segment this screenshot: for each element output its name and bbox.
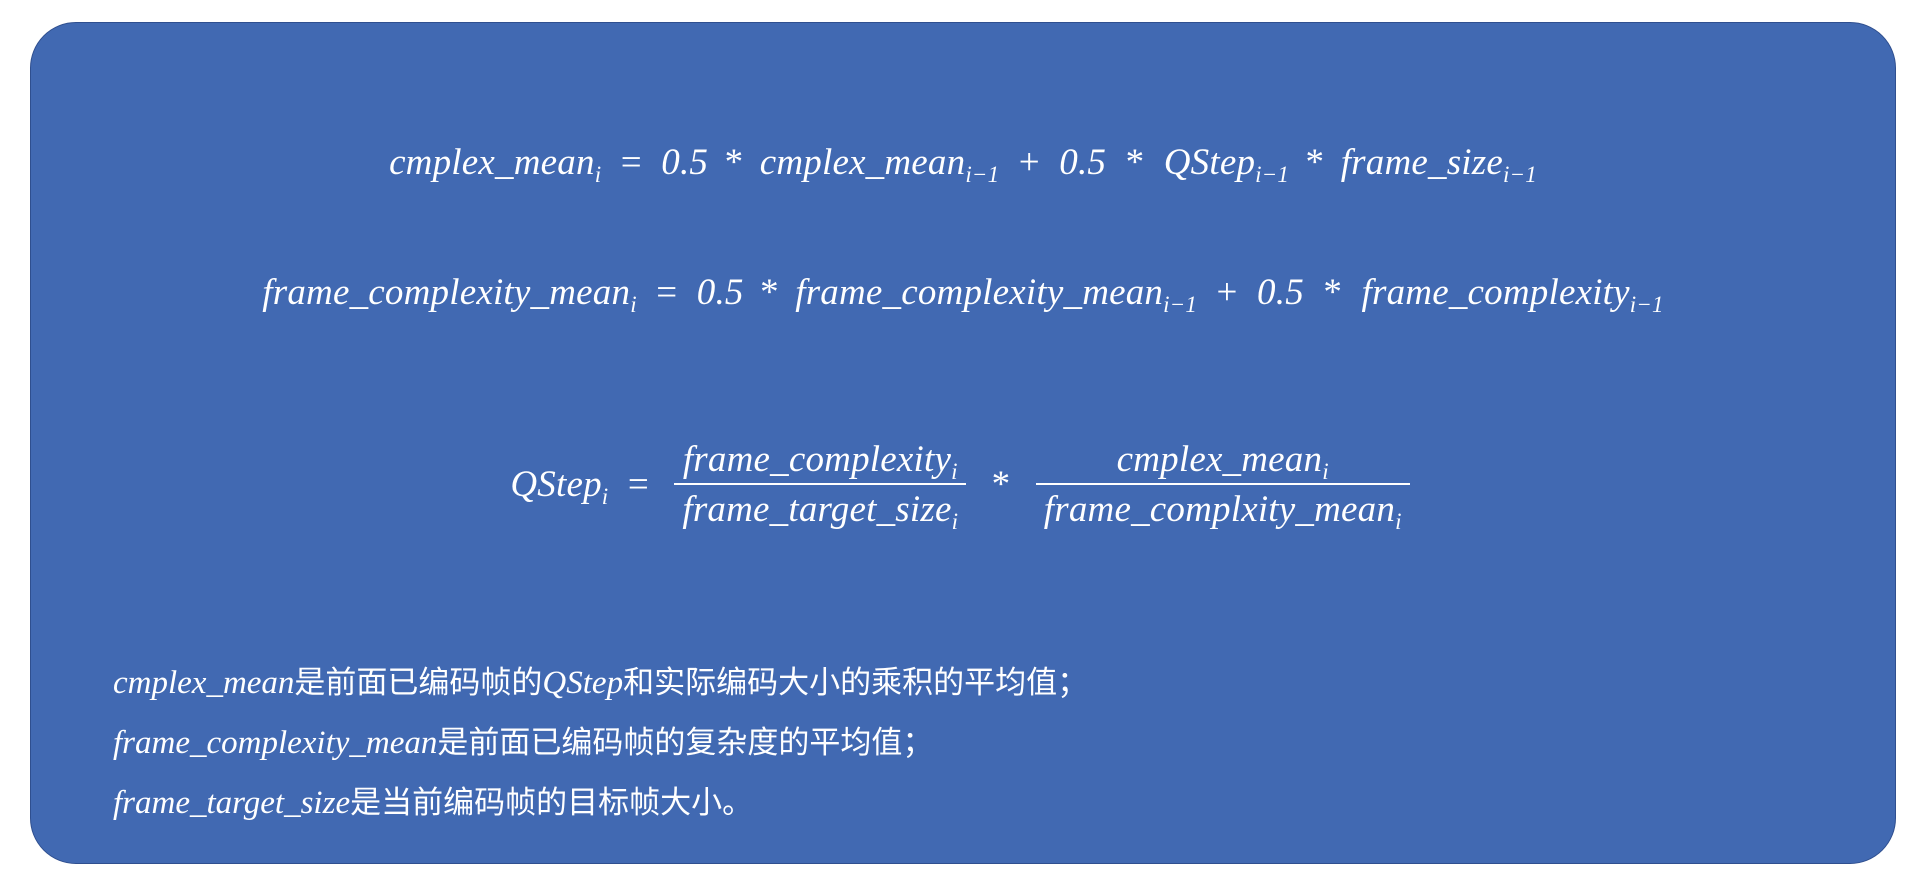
notes-block: cmplex_mean是前面已编码帧的QStep和实际编码大小的乘积的平均值； … [113,659,1813,839]
eq1-term-3: frame_sizei−1 [1341,144,1537,181]
eq2-coefficient-2: 0.5 [1257,274,1304,311]
eq3-fraction-2-denominator: frame_complxity_meani [1036,485,1410,528]
eq2-lhs-base: frame_complexity_mean [262,272,630,313]
note-2-text: 是当前编码帧的目标帧大小。 [350,785,753,821]
equation-frame-complexity-mean-recurrence: frame_complexity_meani = 0.5 * frame_com… [31,271,1895,311]
eq3-frac1-den-base: frame_target_size [682,489,951,530]
eq2-term-1: frame_complexity_meani−1 [795,274,1197,311]
eq2-term-1-base: frame_complexity_mean [795,272,1163,313]
eq3-fraction-2-numerator: cmplex_meani [1036,441,1410,485]
eq3-fraction-1-numerator: frame_complexityi [674,441,966,485]
note-line-cmplex-mean: cmplex_mean是前面已编码帧的QStep和实际编码大小的乘积的平均值； [113,659,1813,707]
eq3-frac1-num-base: frame_complexity [683,439,951,480]
eq1-term-3-base: frame_size [1341,142,1503,183]
eq3-frac1-den-sub: i [952,509,959,534]
eq1-term-2-sub: i−1 [1255,162,1289,187]
note-2-term: frame_target_size [113,785,350,821]
note-line-frame-target-size: frame_target_size是当前编码帧的目标帧大小。 [113,779,1813,827]
eq1-coefficient-2: 0.5 [1059,144,1106,181]
eq3-times: * [982,466,1021,503]
note-1-term: frame_complexity_mean [113,725,437,761]
eq1-lhs: cmplex_meani [389,144,601,181]
slide-canvas: cmplex_meani = 0.5 * cmplex_meani−1 + 0.… [0,0,1920,896]
eq3-fraction-2: cmplex_meani frame_complxity_meani [1030,441,1416,528]
eq1-lhs-sub: i [595,162,602,187]
eq1-times-2: * [1116,144,1155,181]
eq3-fraction-1: frame_complexityi frame_target_sizei [668,441,972,528]
eq1-term-2: QStepi−1 [1164,144,1289,181]
eq2-times-2: * [1313,274,1352,311]
eq2-plus: + [1207,274,1248,311]
note-1-text: 是前面已编码帧的复杂度的平均值； [437,725,933,761]
eq3-frac2-den-sub: i [1395,509,1402,534]
eq2-term-2: frame_complexityi−1 [1362,274,1664,311]
eq2-term-2-sub: i−1 [1630,292,1664,317]
eq2-lhs: frame_complexity_meani [262,274,637,311]
eq3-lhs: QStepi [510,466,608,503]
eq1-times-3: * [1299,144,1332,181]
formula-panel: cmplex_meani = 0.5 * cmplex_meani−1 + 0.… [30,22,1896,864]
eq3-frac2-num-sub: i [1322,459,1329,484]
eq3-frac2-num-base: cmplex_mean [1117,439,1323,480]
note-line-frame-complexity-mean: frame_complexity_mean是前面已编码帧的复杂度的平均值； [113,719,1813,767]
eq1-term-3-sub: i−1 [1503,162,1537,187]
eq2-lhs-sub: i [630,292,637,317]
eq1-times-1: * [718,144,751,181]
eq1-term-1-base: cmplex_mean [760,142,966,183]
note-0-text: 是前面已编码帧的 [294,665,542,701]
eq1-term-2-base: QStep [1164,142,1255,183]
eq3-fraction-1-denominator: frame_target_sizei [674,485,966,528]
eq2-coefficient-1: 0.5 [697,274,744,311]
eq1-equals: = [611,144,652,181]
eq3-lhs-sub: i [602,484,609,509]
note-0-term: cmplex_mean [113,665,294,701]
note-0-text2: 和实际编码大小的乘积的平均值； [623,665,1088,701]
equation-qstep: QStepi = frame_complexityi frame_target_… [31,441,1895,528]
eq2-times-1: * [753,274,786,311]
eq1-coefficient-1: 0.5 [661,144,708,181]
eq1-term-1: cmplex_meani−1 [760,144,1000,181]
eq1-plus: + [1009,144,1050,181]
note-0-term2: QStep [542,665,623,701]
eq3-frac2-den-base: frame_complxity_mean [1044,489,1395,530]
eq2-term-1-sub: i−1 [1163,292,1197,317]
eq3-lhs-base: QStep [510,464,601,505]
equation-cmplex-mean-recurrence: cmplex_meani = 0.5 * cmplex_meani−1 + 0.… [31,141,1895,181]
eq1-term-1-sub: i−1 [965,162,999,187]
eq1-lhs-base: cmplex_mean [389,142,595,183]
eq3-equals: = [618,466,659,503]
eq3-frac1-num-sub: i [951,459,958,484]
eq2-term-2-base: frame_complexity [1362,272,1630,313]
eq2-equals: = [646,274,687,311]
